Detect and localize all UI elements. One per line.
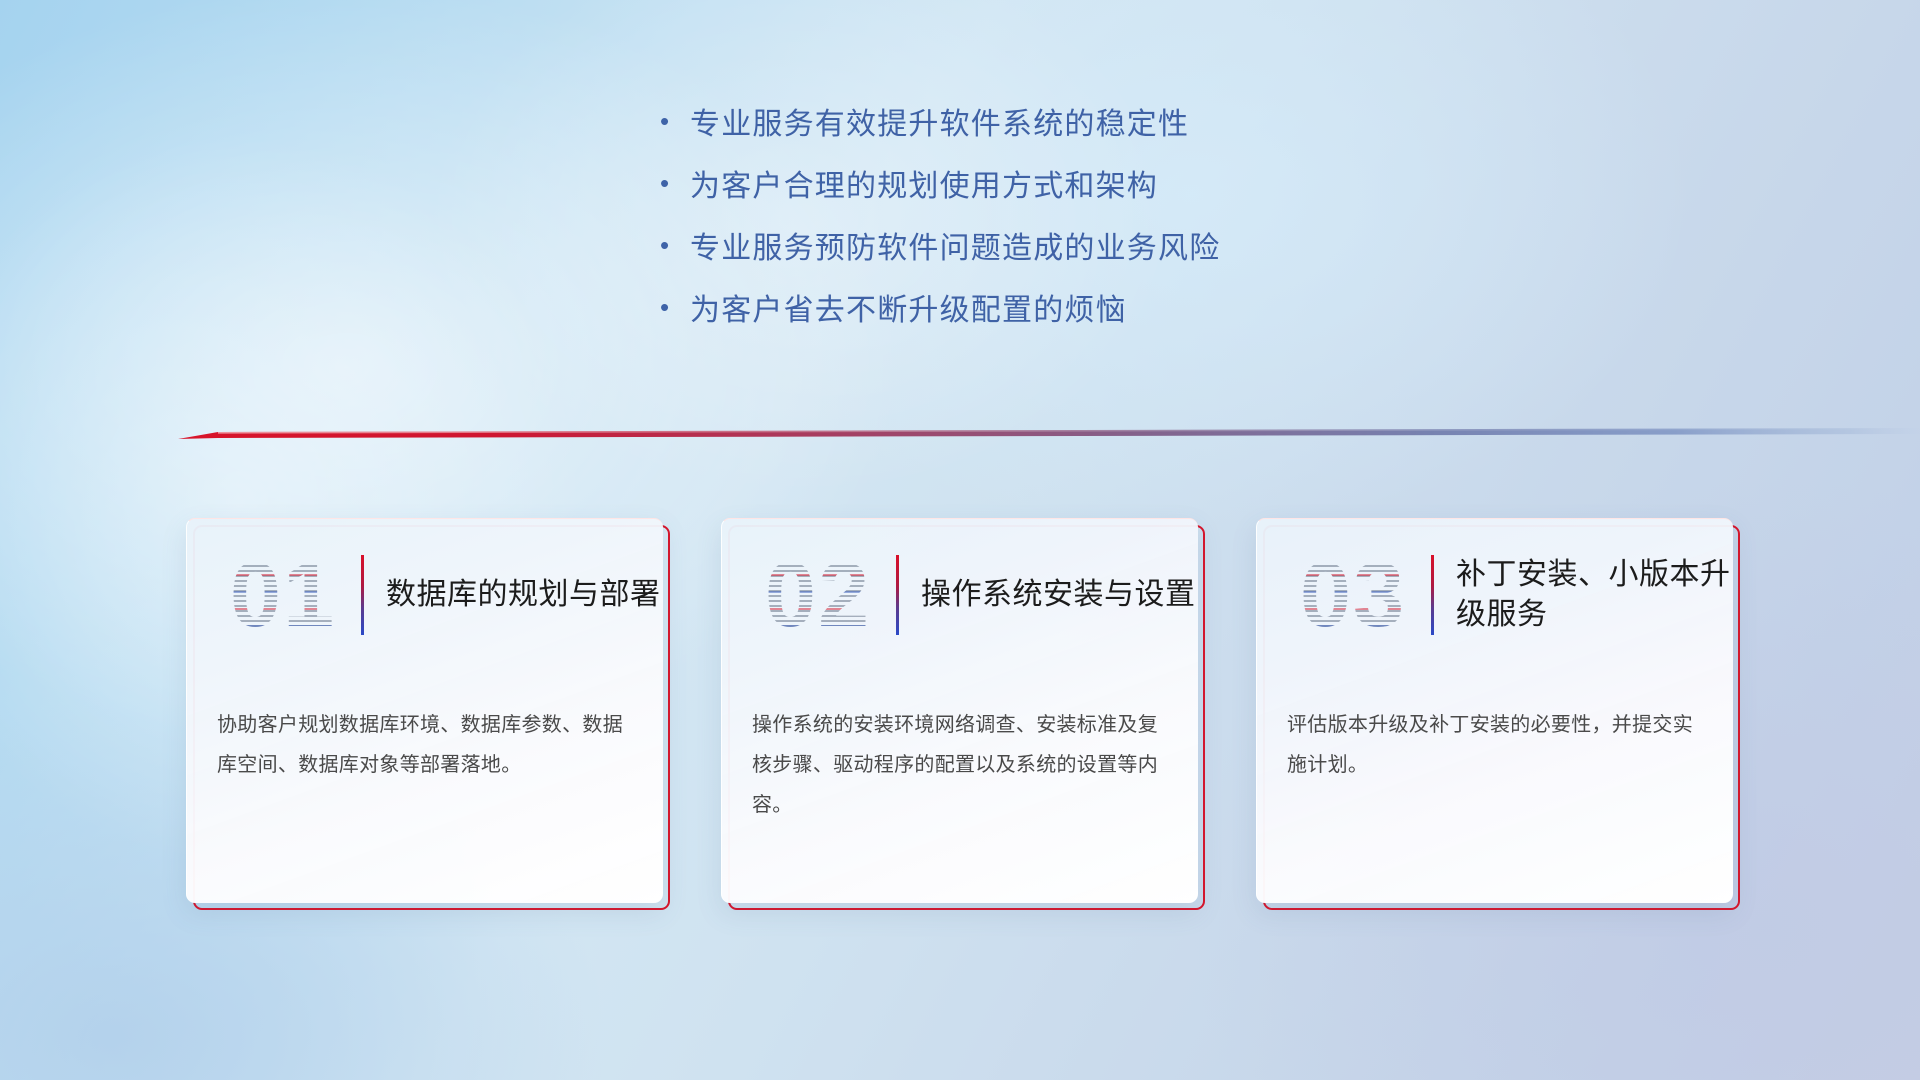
service-card[interactable]: 02 操作系统安装与设置 操作系统的安装环境网络调查、安装标准及复核步骤、驱动程… [721, 518, 1198, 903]
list-item: • 为客户省去不断升级配置的烦恼 [660, 294, 1560, 327]
service-cards: 01 数据库的规划与部署 协助客户规划数据库环境、数据库参数、数据库空间、数据库… [186, 518, 1734, 908]
section-divider [178, 425, 1920, 447]
card-number-watermark: 02 [744, 540, 892, 650]
card-number-watermark: 03 [1279, 540, 1427, 650]
bullet-text: 专业服务预防软件问题造成的业务风险 [690, 232, 1220, 265]
list-item: • 专业服务预防软件问题造成的业务风险 [660, 232, 1560, 265]
card-header: 03 补丁安装、小版本升级服务 [1257, 519, 1733, 671]
benefits-bullet-list: • 专业服务有效提升软件系统的稳定性 • 为客户合理的规划使用方式和架构 • 专… [660, 108, 1560, 356]
bullet-text: 专业服务有效提升软件系统的稳定性 [690, 108, 1189, 141]
card-description: 操作系统的安装环境网络调查、安装标准及复核步骤、驱动程序的配置以及系统的设置等内… [722, 671, 1198, 825]
service-card[interactable]: 01 数据库的规划与部署 协助客户规划数据库环境、数据库参数、数据库空间、数据库… [186, 518, 663, 903]
card-divider-bar [896, 555, 899, 635]
service-card[interactable]: 03 补丁安装、小版本升级服务 评估版本升级及补丁安装的必要性，并提交实施计划。 [1256, 518, 1733, 903]
list-item: • 为客户合理的规划使用方式和架构 [660, 170, 1560, 203]
card-divider-bar [1431, 555, 1434, 635]
card-number-watermark: 01 [209, 540, 357, 650]
bullet-marker-icon: • [660, 294, 690, 320]
bullet-text: 为客户省去不断升级配置的烦恼 [690, 294, 1127, 327]
card-title: 数据库的规划与部署 [386, 575, 661, 615]
card-surface: 02 操作系统安装与设置 操作系统的安装环境网络调查、安装标准及复核步骤、驱动程… [721, 518, 1198, 903]
bullet-marker-icon: • [660, 108, 690, 134]
card-surface: 01 数据库的规划与部署 协助客户规划数据库环境、数据库参数、数据库空间、数据库… [186, 518, 663, 903]
bullet-marker-icon: • [660, 232, 690, 258]
card-header: 01 数据库的规划与部署 [187, 519, 663, 671]
slide-canvas: • 专业服务有效提升软件系统的稳定性 • 为客户合理的规划使用方式和架构 • 专… [0, 0, 1920, 1080]
bullet-text: 为客户合理的规划使用方式和架构 [690, 170, 1158, 203]
card-header: 02 操作系统安装与设置 [722, 519, 1198, 671]
card-divider-bar [361, 555, 364, 635]
card-description: 评估版本升级及补丁安装的必要性，并提交实施计划。 [1257, 671, 1733, 785]
list-item: • 专业服务有效提升软件系统的稳定性 [660, 108, 1560, 141]
card-description: 协助客户规划数据库环境、数据库参数、数据库空间、数据库对象等部署落地。 [187, 671, 663, 785]
card-surface: 03 补丁安装、小版本升级服务 评估版本升级及补丁安装的必要性，并提交实施计划。 [1256, 518, 1733, 903]
card-title: 操作系统安装与设置 [921, 575, 1196, 615]
card-title: 补丁安装、小版本升级服务 [1456, 555, 1733, 634]
bullet-marker-icon: • [660, 170, 690, 196]
